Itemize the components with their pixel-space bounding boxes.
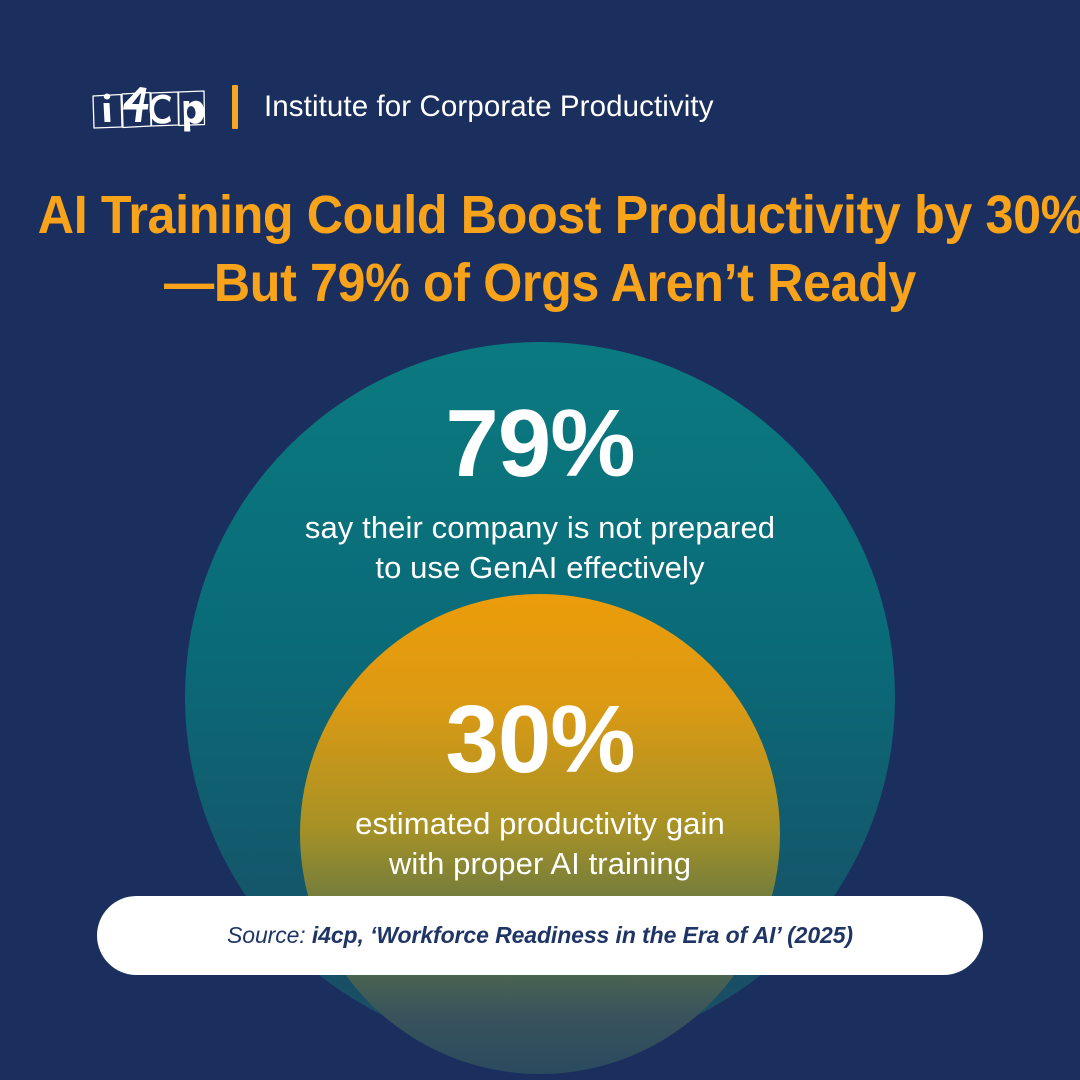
stat-description-outer-line-2: to use GenAI effectively	[0, 548, 1080, 588]
i4cp-logo-icon	[88, 81, 206, 133]
vertical-divider-icon	[232, 85, 238, 129]
headline-line-1: AI Training Could Boost Productivity by …	[38, 181, 1042, 249]
stat-value-inner: 30%	[0, 688, 1080, 792]
brand-lockup: Institute for Corporate Productivity	[88, 78, 714, 136]
stat-description-inner-line-1: estimated productivity gain	[0, 804, 1080, 844]
stat-value-outer: 79%	[0, 392, 1080, 496]
source-reference: i4cp, ‘Workforce Readiness in the Era of…	[312, 922, 853, 948]
stat-block-outer: 79% say their company is not prepared to…	[0, 392, 1080, 588]
source-prefix: Source:	[227, 922, 312, 948]
stat-description-inner-line-2: with proper AI training	[0, 844, 1080, 884]
stat-description-outer-line-1: say their company is not prepared	[0, 508, 1080, 548]
stat-block-inner: 30% estimated productivity gain with pro…	[0, 688, 1080, 884]
infographic-canvas: Institute for Corporate Productivity AI …	[0, 0, 1080, 1080]
headline-line-2: —But 79% of Orgs Aren’t Ready	[38, 249, 1042, 317]
source-pill: Source: i4cp, ‘Workforce Readiness in th…	[97, 896, 983, 975]
stat-description-inner: estimated productivity gain with proper …	[0, 804, 1080, 884]
stat-description-outer: say their company is not prepared to use…	[0, 508, 1080, 588]
organization-name: Institute for Corporate Productivity	[264, 92, 714, 122]
page-title: AI Training Could Boost Productivity by …	[38, 181, 1042, 317]
source-citation: Source: i4cp, ‘Workforce Readiness in th…	[227, 922, 853, 949]
